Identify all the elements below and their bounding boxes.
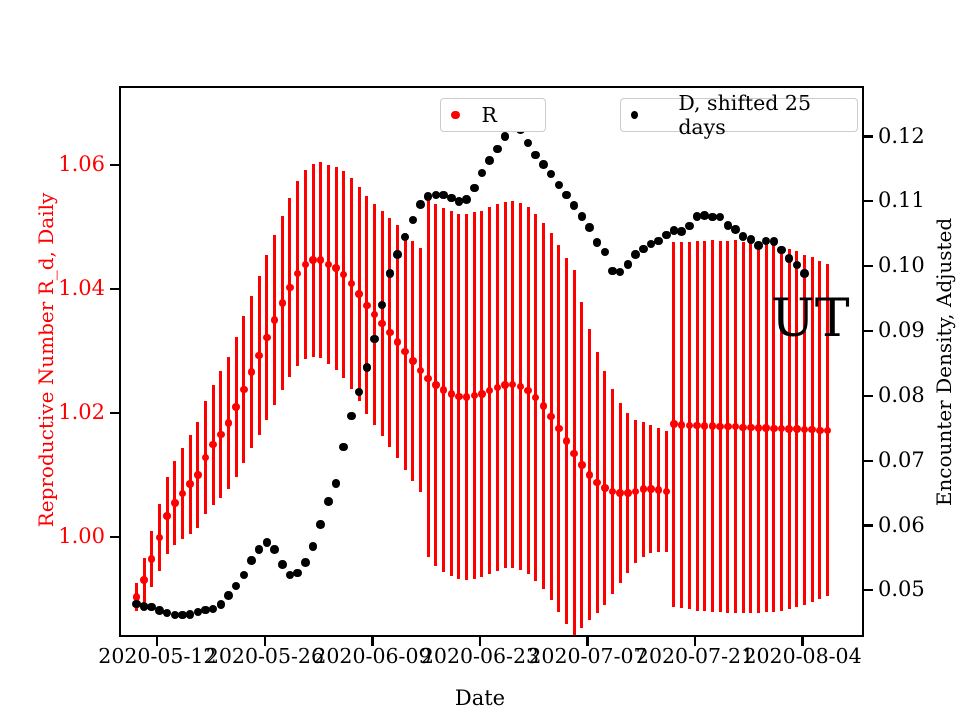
data-point-r — [808, 426, 816, 434]
y-axis-right-label: Encounter Density, Adjusted — [932, 218, 956, 506]
y-tick-label-right: 0.09 — [878, 320, 925, 341]
data-point-r — [785, 425, 793, 433]
data-point-d — [555, 181, 564, 190]
data-point-d — [347, 412, 356, 421]
data-point-d — [316, 520, 325, 529]
data-point-d — [800, 269, 809, 278]
y-tick-right — [864, 395, 873, 397]
data-point-r — [179, 490, 187, 498]
data-point-d — [247, 556, 256, 565]
data-point-r — [532, 394, 540, 402]
data-point-d — [716, 213, 725, 222]
data-point-d — [370, 335, 379, 344]
data-point-d — [578, 212, 587, 221]
data-point-r — [148, 555, 156, 563]
data-point-d — [355, 388, 364, 397]
data-point-r — [655, 486, 663, 494]
data-point-r — [501, 381, 509, 389]
data-point-r — [678, 421, 686, 429]
data-point-r — [171, 499, 179, 507]
data-point-r — [424, 375, 432, 383]
data-point-r — [317, 256, 325, 264]
data-point-r — [609, 488, 617, 496]
data-point-d — [332, 479, 341, 488]
data-point-r — [432, 381, 440, 389]
data-point-d — [731, 225, 740, 234]
y-tick-label-right: 0.08 — [878, 385, 925, 406]
data-point-r — [202, 454, 210, 462]
y-tick-right — [864, 265, 873, 267]
data-point-r — [624, 489, 632, 497]
data-point-d — [547, 170, 556, 179]
red-dot-icon — [451, 111, 460, 120]
data-point-d — [531, 151, 540, 160]
data-point-r — [263, 334, 271, 342]
data-point-r — [186, 480, 194, 488]
legend-label-r: R — [482, 103, 497, 127]
data-point-r — [209, 441, 217, 449]
y-tick-right — [864, 200, 873, 202]
data-point-r — [524, 387, 532, 395]
data-point-d — [585, 223, 594, 232]
data-point-r — [394, 338, 402, 346]
data-point-r — [348, 280, 356, 288]
data-point-d — [677, 227, 686, 236]
data-point-r — [563, 437, 571, 445]
data-point-r — [217, 431, 225, 439]
data-point-d — [601, 248, 610, 257]
data-point-r — [486, 387, 494, 395]
figure-canvas: Reproductive Number R_d, Daily Encounter… — [0, 0, 960, 720]
y-tick-right — [864, 589, 873, 591]
x-tick-label: 2020-08-04 — [733, 646, 873, 667]
data-point-d — [654, 237, 663, 246]
x-axis-label: Date — [0, 686, 960, 710]
data-point-r — [225, 419, 233, 427]
data-point-r — [440, 386, 448, 394]
data-point-r — [332, 264, 340, 272]
data-point-r — [686, 422, 694, 430]
data-point-r — [601, 484, 609, 492]
data-point-r — [593, 479, 601, 487]
data-point-r — [540, 402, 548, 410]
data-point-r — [302, 261, 310, 269]
data-point-r — [716, 423, 724, 431]
data-point-r — [417, 367, 425, 375]
y-tick-left — [110, 288, 119, 290]
y-tick-label-left: 1.06 — [58, 154, 105, 175]
data-point-r — [755, 424, 763, 432]
y-axis-left-label: Reproductive Number R_d, Daily — [34, 193, 58, 528]
data-point-d — [209, 605, 218, 614]
data-point-d — [501, 132, 510, 141]
legend-entry-r[interactable]: R — [440, 98, 546, 132]
data-point-d — [255, 545, 264, 554]
data-point-r — [647, 485, 655, 493]
data-point-r — [762, 424, 770, 432]
data-point-r — [163, 512, 171, 520]
data-point-r — [286, 284, 294, 292]
data-point-r — [386, 329, 394, 337]
data-point-r — [355, 290, 363, 298]
data-point-d — [278, 560, 287, 569]
y-tick-label-left: 1.04 — [58, 278, 105, 299]
data-point-r — [463, 393, 471, 401]
data-point-r — [255, 352, 263, 360]
data-point-d — [539, 160, 548, 169]
y-tick-label-left: 1.00 — [58, 526, 105, 547]
data-point-r — [739, 424, 747, 432]
data-point-r — [471, 392, 479, 400]
data-point-d — [524, 139, 533, 148]
data-point-r — [309, 256, 317, 264]
y-tick-label-right: 0.10 — [878, 255, 925, 276]
data-point-d — [224, 591, 233, 600]
data-point-d — [386, 269, 395, 278]
data-point-r — [670, 420, 678, 428]
y-tick-left — [110, 536, 119, 538]
data-point-d — [263, 538, 272, 547]
data-point-r — [509, 381, 517, 389]
y-tick-right — [864, 330, 873, 332]
data-point-r — [640, 485, 648, 493]
data-point-d — [363, 363, 372, 372]
data-point-r — [279, 299, 287, 307]
data-point-d — [770, 237, 779, 246]
annotation-ut: UT — [771, 293, 850, 345]
data-point-r — [240, 386, 248, 394]
data-point-d — [485, 156, 494, 165]
data-point-d — [293, 569, 302, 578]
black-dot-icon — [631, 111, 638, 120]
data-point-d — [232, 582, 241, 591]
data-point-r — [586, 471, 594, 479]
data-point-d — [785, 254, 794, 263]
data-point-r — [816, 427, 824, 435]
data-point-r — [747, 424, 755, 432]
data-point-r — [409, 357, 417, 365]
data-point-d — [217, 600, 226, 609]
data-point-r — [701, 422, 709, 430]
y-tick-left — [110, 164, 119, 166]
data-point-d — [478, 169, 487, 178]
data-point-r — [709, 422, 717, 430]
y-tick-right — [864, 524, 873, 526]
data-point-d — [339, 443, 348, 452]
data-point-d — [401, 233, 410, 242]
data-point-r — [547, 413, 555, 421]
data-point-d — [685, 222, 694, 231]
data-point-d — [562, 191, 571, 200]
data-point-r — [378, 320, 386, 328]
data-point-r — [570, 450, 578, 458]
plot-area: UT — [119, 86, 864, 637]
data-point-d — [470, 184, 479, 193]
data-point-r — [732, 423, 740, 431]
data-point-d — [493, 145, 502, 154]
y-tick-label-right: 0.12 — [878, 126, 925, 147]
data-point-d — [793, 261, 802, 270]
data-point-d — [409, 216, 418, 225]
legend-entry-d[interactable]: D, shifted 25 days — [620, 98, 858, 132]
data-point-r — [616, 489, 624, 497]
data-point-d — [393, 250, 402, 259]
data-point-d — [639, 245, 648, 254]
data-point-r — [340, 271, 348, 279]
data-point-r — [578, 461, 586, 469]
data-point-r — [156, 534, 164, 542]
data-point-d — [624, 260, 633, 269]
data-point-d — [777, 246, 786, 255]
data-point-r — [271, 316, 279, 324]
data-point-r — [555, 425, 563, 433]
data-point-r — [494, 384, 502, 392]
data-point-d — [270, 545, 279, 554]
data-point-r — [517, 383, 525, 391]
data-point-r — [294, 270, 302, 278]
y-tick-label-right: 0.11 — [878, 190, 925, 211]
data-point-r — [401, 348, 409, 356]
data-point-r — [778, 425, 786, 433]
data-point-r — [455, 393, 463, 401]
data-point-r — [693, 422, 701, 430]
data-point-d — [570, 201, 579, 210]
data-point-r — [140, 576, 148, 584]
y-tick-left — [110, 412, 119, 414]
data-point-r — [448, 390, 456, 398]
data-point-d — [378, 301, 387, 310]
data-layer — [121, 88, 862, 635]
data-point-r — [801, 426, 809, 434]
data-point-r — [232, 403, 240, 411]
y-tick-right — [864, 135, 873, 137]
data-point-d — [593, 238, 602, 247]
data-point-r — [363, 302, 371, 310]
data-point-d — [631, 250, 640, 259]
data-point-d — [240, 571, 249, 580]
data-point-r — [770, 425, 778, 433]
y-tick-label-right: 0.05 — [878, 579, 925, 600]
y-tick-label-left: 1.02 — [58, 402, 105, 423]
data-point-r — [663, 488, 671, 496]
data-point-d — [309, 542, 318, 551]
data-point-r — [793, 425, 801, 433]
data-point-d — [163, 609, 172, 618]
data-point-d — [301, 558, 310, 567]
data-point-r — [632, 488, 640, 496]
legend-label-d: D, shifted 25 days — [678, 91, 839, 139]
data-point-d — [462, 195, 471, 204]
data-point-r — [478, 390, 486, 398]
data-point-d — [324, 497, 333, 506]
data-point-d — [416, 200, 425, 209]
data-point-r — [248, 368, 256, 376]
y-tick-right — [864, 460, 873, 462]
data-point-r — [371, 311, 379, 319]
data-point-r — [325, 261, 333, 269]
data-point-r — [724, 423, 732, 431]
data-point-r — [194, 471, 202, 479]
y-tick-label-right: 0.06 — [878, 515, 925, 536]
data-point-d — [616, 268, 625, 277]
data-point-r — [824, 427, 832, 435]
y-tick-label-right: 0.07 — [878, 450, 925, 471]
